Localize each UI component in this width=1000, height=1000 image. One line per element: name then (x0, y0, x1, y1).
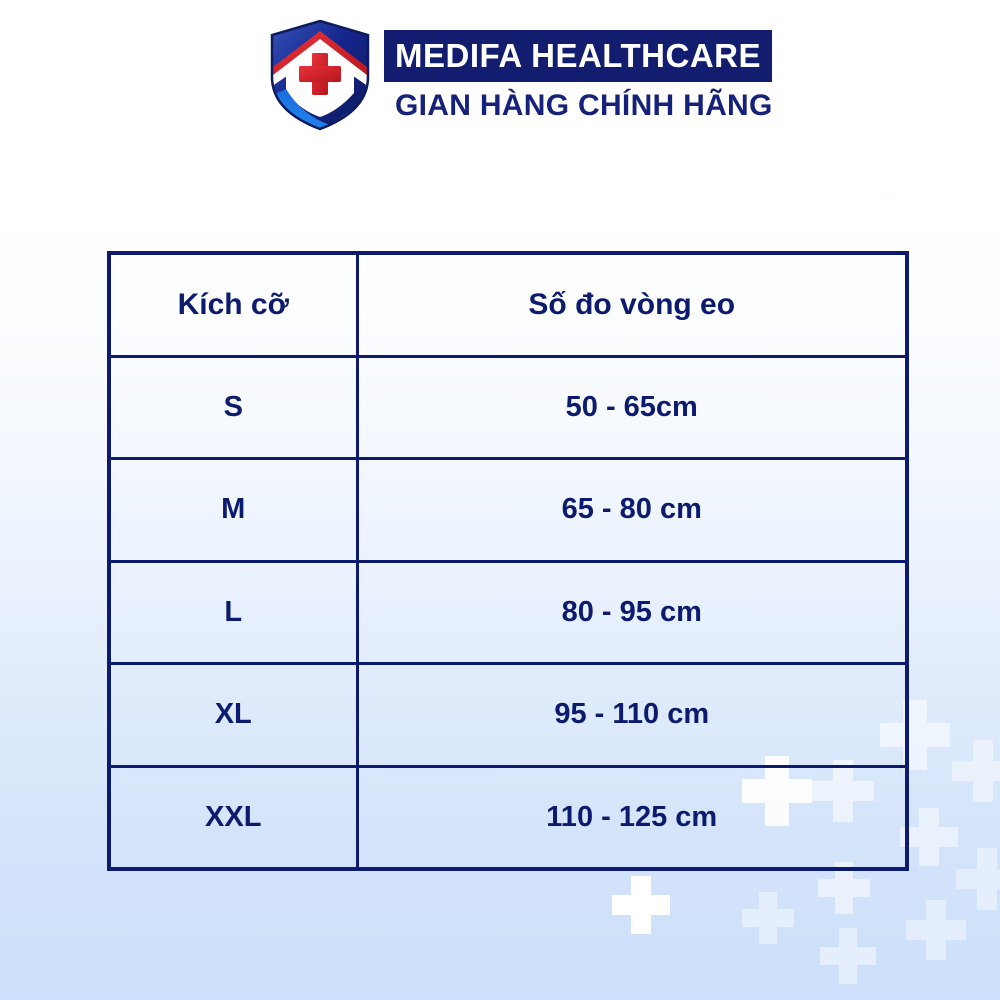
header-cell-waist: Số đo vòng eo (357, 253, 907, 356)
brand-banner: MEDIFA HEALTHCARE (384, 30, 772, 82)
size-chart-table: Kích cỡ Số đo vòng eo S 50 - 65cm M 65 -… (107, 251, 909, 871)
cell-waist: 65 - 80 cm (357, 459, 907, 562)
header-cell-size: Kích cỡ (109, 253, 357, 356)
cell-size: S (109, 356, 357, 459)
cell-size: M (109, 459, 357, 562)
cell-waist: 95 - 110 cm (357, 664, 907, 767)
cell-waist: 110 - 125 cm (357, 766, 907, 869)
decorative-cross-icon (742, 892, 794, 944)
brand-text-block: MEDIFA HEALTHCARE GIAN HÀNG CHÍNH HÃNG (384, 30, 784, 121)
cell-size: XXL (109, 766, 357, 869)
decorative-cross-icon (906, 900, 966, 960)
decorative-cross-icon (820, 928, 876, 984)
decorative-cross-icon (952, 740, 1000, 802)
cell-waist: 50 - 65cm (357, 356, 907, 459)
brand-header: MEDIFA HEALTHCARE GIAN HÀNG CHÍNH HÃNG (268, 12, 738, 138)
size-chart-page: MEDIFA HEALTHCARE GIAN HÀNG CHÍNH HÃNG K… (0, 0, 1000, 1000)
table-row: XXL 110 - 125 cm (109, 766, 907, 869)
table-row: L 80 - 95 cm (109, 561, 907, 664)
decorative-cross-icon (612, 876, 670, 934)
table-row: S 50 - 65cm (109, 356, 907, 459)
table-header-row: Kích cỡ Số đo vòng eo (109, 253, 907, 356)
decorative-cross-icon (956, 848, 1000, 910)
cell-size: L (109, 561, 357, 664)
size-table-body: Kích cỡ Số đo vòng eo S 50 - 65cm M 65 -… (109, 253, 907, 869)
table-row: XL 95 - 110 cm (109, 664, 907, 767)
table-row: M 65 - 80 cm (109, 459, 907, 562)
medical-shield-house-cross-icon (268, 19, 372, 131)
cell-waist: 80 - 95 cm (357, 561, 907, 664)
brand-subtitle: GIAN HÀNG CHÍNH HÃNG (384, 82, 784, 121)
cell-size: XL (109, 664, 357, 767)
